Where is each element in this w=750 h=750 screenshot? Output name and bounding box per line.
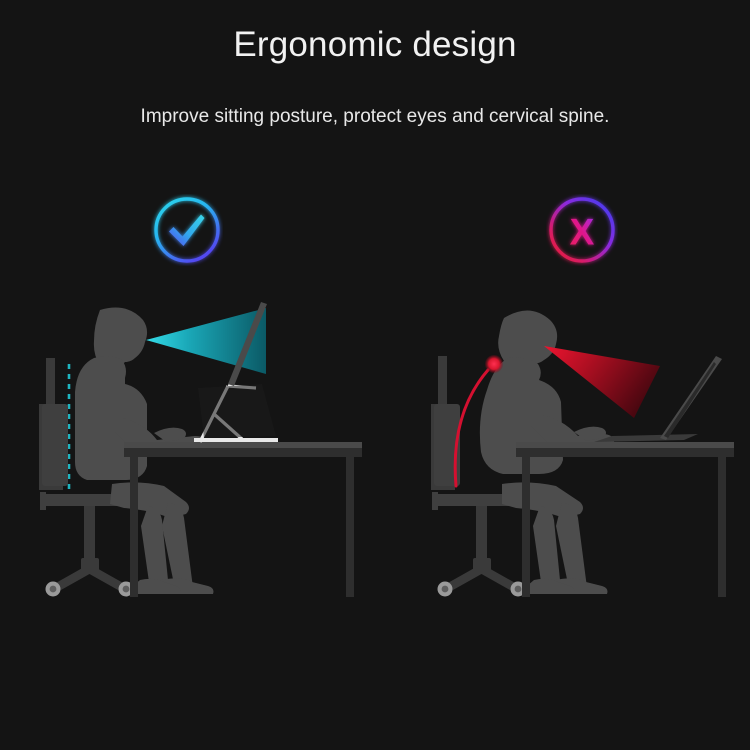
ergonomic-design-infographic: Ergonomic design Improve sitting posture… — [0, 0, 750, 750]
check-circle-icon — [151, 194, 223, 266]
laptop-stand — [194, 384, 278, 442]
page-title: Ergonomic design — [0, 26, 750, 65]
bad-posture-illustration — [398, 296, 743, 626]
good-posture-illustration — [28, 296, 373, 626]
x-mark-label: X — [570, 212, 595, 253]
vision-cone-bad — [544, 346, 660, 418]
neck-pain-indicator — [485, 355, 503, 373]
x-circle-icon: X — [546, 194, 618, 266]
page-subtitle: Improve sitting posture, protect eyes an… — [0, 107, 750, 128]
